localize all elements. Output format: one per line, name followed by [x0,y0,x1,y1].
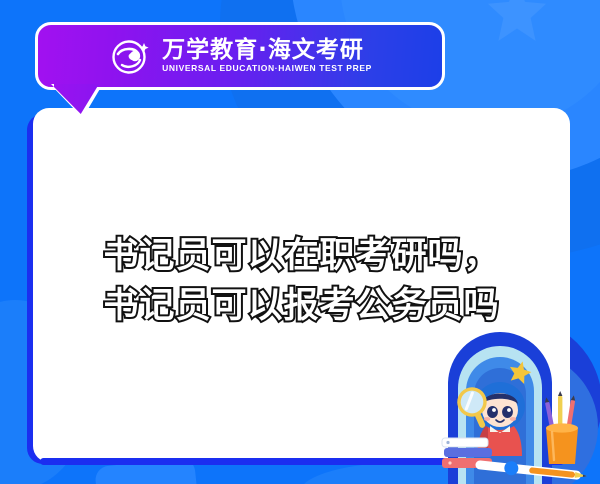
logo-row: 万学教育·海文考研 UNIVERSAL EDUCATION·HAIWEN TES… [108,34,372,78]
brand-name-cn: 万学教育·海文考研 [162,39,372,62]
poster-canvas: 万学教育·海文考研 UNIVERSAL EDUCATION·HAIWEN TES… [0,0,600,484]
brand-name-en: UNIVERSAL EDUCATION·HAIWEN TEST PREP [162,64,372,73]
student-mascot-illustration [440,318,600,484]
logo-text-block: 万学教育·海文考研 UNIVERSAL EDUCATION·HAIWEN TES… [162,39,372,73]
speech-bubble: 万学教育·海文考研 UNIVERSAL EDUCATION·HAIWEN TES… [35,22,445,90]
brand-header: 万学教育·海文考研 UNIVERSAL EDUCATION·HAIWEN TES… [35,22,445,90]
haiwen-swirl-logo-icon [108,34,152,78]
page-title: 书记员可以在职考研吗，书记员可以报考公务员吗 [87,232,517,331]
background-star-icon [486,0,548,44]
